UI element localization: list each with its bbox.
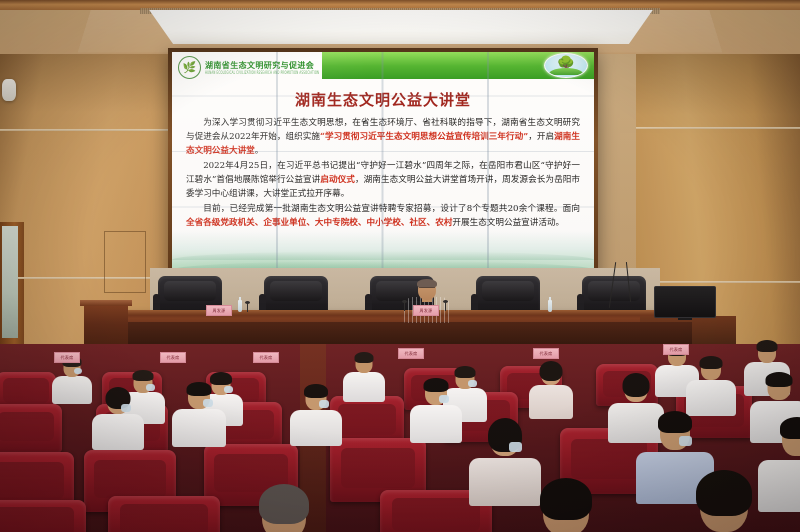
flat-screen-monitor-icon[interactable]: [654, 286, 716, 318]
name-placard: 代表席: [253, 352, 279, 363]
screen-surface: 🌿 湖南省生态文明研究与促进会 HUNAN ECOLOGICAL CIVILIZ…: [172, 52, 594, 274]
text-run: 目前，已经完成第一批湖南生态文明公益宣讲特聘专家招募，设计了8个专题共20余个课…: [203, 204, 580, 214]
name-placard: 代表席: [663, 344, 689, 355]
name-placard: 代表席: [398, 348, 424, 359]
left-wall-trim-upper: [0, 129, 172, 131]
name-placard: 代表席: [54, 352, 80, 363]
right-wall-trim-upper: [636, 127, 800, 129]
head-table-front-panel: [112, 322, 692, 344]
slide-paragraph: 2022年4月25日，在习近平总书记提出“守护好一江碧水”四周年之际，在岳阳市君…: [186, 159, 580, 201]
audience-member: [676, 470, 772, 532]
slide-paragraph: 目前，已经完成第一批湖南生态文明公益宣讲特聘专家招募，设计了8个专题共20余个课…: [186, 202, 580, 230]
name-placard: 代表席: [160, 352, 186, 363]
audience-member: [292, 384, 340, 440]
audience-member: [520, 478, 612, 532]
name-placard: 周发源: [206, 305, 232, 316]
text-run: 。: [255, 146, 264, 156]
conference-hall-photo: 🌿 湖南省生态文明研究与促进会 HUNAN ECOLOGICAL CIVILIZ…: [0, 0, 800, 532]
association-name-en: HUNAN ECOLOGICAL CIVILIZATION RESEARCH A…: [205, 71, 319, 76]
association-name-cn: 湖南省生态文明研究与促进会: [205, 60, 319, 71]
water-bottle-icon: [548, 300, 552, 312]
led-ceiling-panel-icon: [136, 10, 666, 44]
leaf-emblem-icon: 🌿: [178, 56, 201, 79]
ground-glyph: [548, 68, 584, 75]
audience-seat[interactable]: [0, 500, 86, 532]
association-identity: 湖南省生态文明研究与促进会 HUNAN ECOLOGICAL CIVILIZAT…: [205, 60, 319, 74]
name-placard: 代表席: [533, 348, 559, 359]
left-wall-trim-lower: [18, 277, 172, 279]
presentation-slide: 🌿 湖南省生态文明研究与促进会 HUNAN ECOLOGICAL CIVILIZ…: [172, 52, 594, 274]
right-wall-trim-lower: [636, 281, 800, 283]
microphone-icon: [247, 303, 248, 312]
highlighted-text-run: 启动仪式: [320, 175, 355, 185]
text-run: 开展生态文明公益宣讲活动。: [452, 218, 564, 228]
lectern-top: [80, 300, 132, 306]
audience-member: [94, 388, 142, 444]
audience-seat[interactable]: [0, 404, 62, 452]
slide-header-band: 🌿 湖南省生态文明研究与促进会 HUNAN ECOLOGICAL CIVILIZ…: [172, 52, 594, 82]
highlighted-text-run: “学习贯彻习近平生态文明思想公益宣传培训三年行动”: [320, 132, 528, 142]
water-bottle-icon: [238, 300, 242, 312]
audience-member: [530, 362, 572, 414]
audience-member: [174, 382, 224, 440]
name-placard: 周发源: [413, 305, 439, 316]
microphone-icon: [404, 302, 405, 311]
left-door-glass: [2, 226, 18, 338]
highlighted-text-run: 全省各级党政机关、企事业单位、大中专院校、中小学校、社区、农村: [186, 218, 452, 228]
audience-member: [688, 356, 734, 412]
audience-seat[interactable]: [108, 496, 220, 532]
slide-title: 湖南生态文明公益大讲堂: [172, 82, 594, 114]
green-tree-landscape-icon: 🌳: [544, 53, 588, 78]
eyeglasses-icon: [419, 287, 435, 290]
slide-paragraph: 为深入学习贯彻习近平生态文明思想，在省生态环境厅、省社科联的指导下，湖南省生态文…: [186, 116, 580, 158]
microphone-icon: [445, 302, 446, 311]
audience-member: [240, 484, 328, 532]
audience-member: [344, 352, 384, 400]
led-video-wall[interactable]: 🌿 湖南省生态文明研究与促进会 HUNAN ECOLOGICAL CIVILIZ…: [168, 48, 598, 278]
wall-speaker-icon: [2, 79, 16, 101]
audience-member: [412, 378, 460, 436]
text-run: ，开启: [528, 132, 554, 142]
left-wall-access-hatch: [104, 231, 146, 293]
